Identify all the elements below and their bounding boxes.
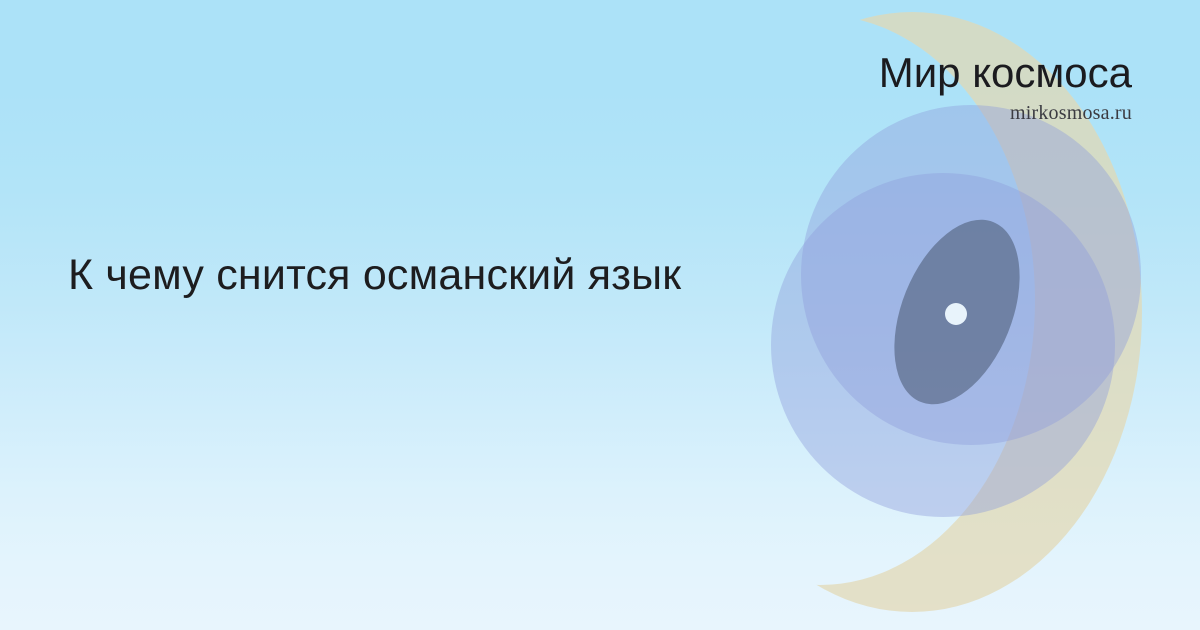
center-dot bbox=[945, 303, 967, 325]
logo-title: Мир космоса bbox=[879, 52, 1132, 94]
center-ellipse bbox=[870, 201, 1045, 422]
article-headline: К чему снится османский язык bbox=[68, 250, 888, 302]
circle-lower bbox=[771, 173, 1115, 517]
site-logo[interactable]: Мир космоса mirkosmosa.ru bbox=[879, 52, 1132, 123]
logo-domain: mirkosmosa.ru bbox=[879, 103, 1132, 123]
preview-card: Мир космоса mirkosmosa.ru К чему снится … bbox=[0, 0, 1200, 630]
